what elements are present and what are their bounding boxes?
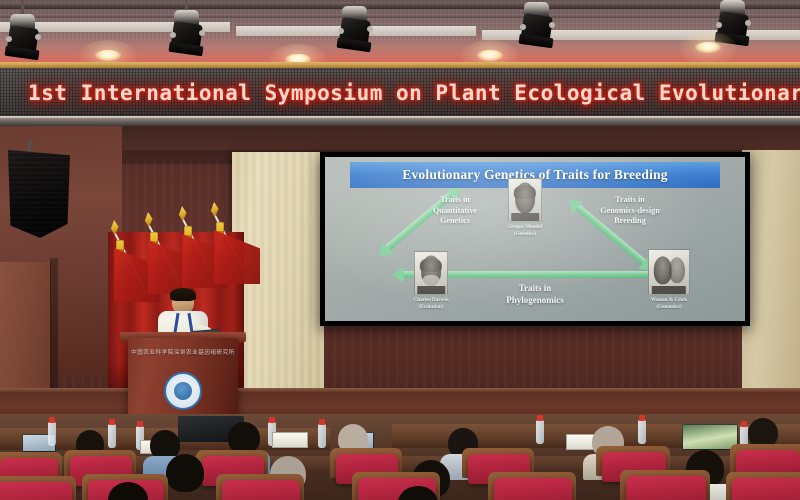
led-banner-board: 1st International Symposium on Plant Eco… [0, 68, 800, 118]
audience-seat[interactable] [494, 478, 572, 500]
node-name-watson-crick: Watson & Crick [651, 297, 687, 304]
audience-seat[interactable] [732, 478, 800, 500]
led-banner: 1st International Symposium on Plant Eco… [0, 62, 800, 118]
projection-screen-frame: Evolutionary Genetics of Traits for Bree… [320, 152, 750, 326]
water-bottle [318, 424, 326, 448]
edge-left-line1: Traits in [409, 195, 501, 206]
portrait-watson-crick [648, 249, 690, 295]
stage-door[interactable] [0, 262, 51, 390]
lighting-truss [0, 2, 800, 9]
ceiling-downlight-icon [95, 50, 121, 61]
audience-seat[interactable] [626, 476, 706, 500]
speaker-rigging [28, 140, 31, 152]
stage-spotlight-icon [8, 14, 38, 60]
attendee-head [166, 454, 204, 492]
portrait-charles-darwin [414, 251, 448, 295]
banner-title-text: 1st International Symposium on Plant Eco… [28, 81, 800, 105]
audience-seat[interactable] [0, 482, 72, 500]
stage-spotlight-icon [522, 2, 552, 48]
node-charles-darwin: Charles Darwin (Evolution) [409, 251, 453, 310]
lighting-truss-secondary [0, 14, 800, 18]
node-gregor-mendel: Gregor Mendel (Genetics) [503, 178, 547, 237]
node-name-darwin: Charles Darwin [413, 297, 448, 304]
node-watson-crick: Watson & Crick (Genomics) [643, 249, 695, 310]
node-field-mendel: (Genetics) [508, 231, 542, 238]
stage-door-jamb [50, 258, 58, 390]
emblem-mark [174, 382, 192, 400]
wall-metal-trim [0, 118, 800, 126]
podium-nameplate: 中国农业科学院深圳农业基因组研究所 [128, 348, 238, 356]
auditorium-photo: 1st International Symposium on Plant Eco… [0, 0, 800, 500]
line-array-speaker [8, 150, 70, 238]
attendee-name-card [272, 432, 308, 448]
audience-seat[interactable] [222, 480, 300, 500]
portrait-gregor-mendel [508, 178, 542, 222]
attendee-laptop[interactable] [682, 424, 738, 450]
edge-right-line1: Traits in [577, 195, 683, 206]
attendee-laptop-screen [683, 425, 737, 449]
node-name-mendel: Gregor Mendel [508, 224, 542, 231]
water-bottle [536, 420, 544, 444]
ceiling-downlight-icon [695, 42, 721, 53]
node-caption-watson-crick: Watson & Crick (Genomics) [651, 297, 687, 310]
stage-spotlight-icon [172, 10, 202, 56]
edge-right-line3: Breeding [577, 216, 683, 227]
ceiling [0, 0, 800, 62]
edge-label-left: Traits in Quantitative Genetics [409, 195, 501, 227]
stage-spotlight-icon [340, 6, 370, 52]
node-caption-darwin: Charles Darwin (Evolution) [413, 297, 448, 310]
audience-area [0, 414, 800, 500]
ceremonial-flag [212, 212, 264, 284]
podium: 中国农业科学院深圳农业基因组研究所 [128, 338, 238, 416]
edge-left-line2: Quantitative [409, 206, 501, 217]
wall-panel-right [742, 150, 800, 408]
projection-screen: Evolutionary Genetics of Traits for Bree… [325, 157, 745, 321]
ceiling-downlight-icon [477, 50, 503, 61]
edge-right-line2: Genomics-design [577, 206, 683, 217]
water-bottle [108, 424, 116, 448]
water-bottle [48, 422, 56, 446]
node-field-watson-crick: (Genomics) [651, 304, 687, 311]
node-field-darwin: (Evolution) [413, 304, 448, 311]
edge-label-right: Traits in Genomics-design Breeding [577, 195, 683, 227]
edge-left-line3: Genetics [409, 216, 501, 227]
institution-emblem-icon [164, 372, 202, 410]
water-bottle [638, 420, 646, 444]
edge-label-bottom: Traits in Phylogenomics [477, 283, 593, 306]
edge-bottom-line2: Phylogenomics [477, 295, 593, 307]
presenter-hair [170, 288, 196, 301]
node-caption-mendel: Gregor Mendel (Genetics) [508, 224, 542, 237]
edge-bottom-line1: Traits in [477, 283, 593, 295]
